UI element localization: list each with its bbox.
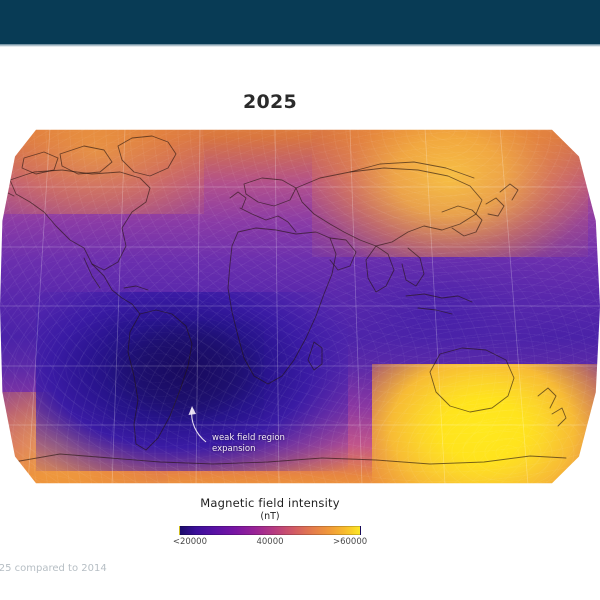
coastlines [0,128,600,485]
colorbar-legend: Magnetic field intensity (nT) <20000 400… [0,496,540,549]
page-header-edge [0,44,600,47]
colorbar-gradient [179,526,361,535]
colorbar-tick-labels: <20000 40000 >60000 [179,537,361,549]
map-projection-clip [0,128,600,485]
colorbar-tick-min: <20000 [173,537,207,547]
figure-caption: 2025 compared to 2014 [0,563,386,574]
page-title: 2025 [0,91,540,113]
legend-units: (nT) [0,511,540,522]
colorbar-mid-tick [270,491,271,496]
magnetic-field-map: weak field region expansion [0,128,600,485]
legend-title: Magnetic field intensity [0,496,540,510]
colorbar-tick-max: >60000 [333,537,367,547]
colorbar-tick-mid: 40000 [256,537,283,547]
figure-page: 2025 [0,0,600,600]
page-header-bar [0,0,600,44]
